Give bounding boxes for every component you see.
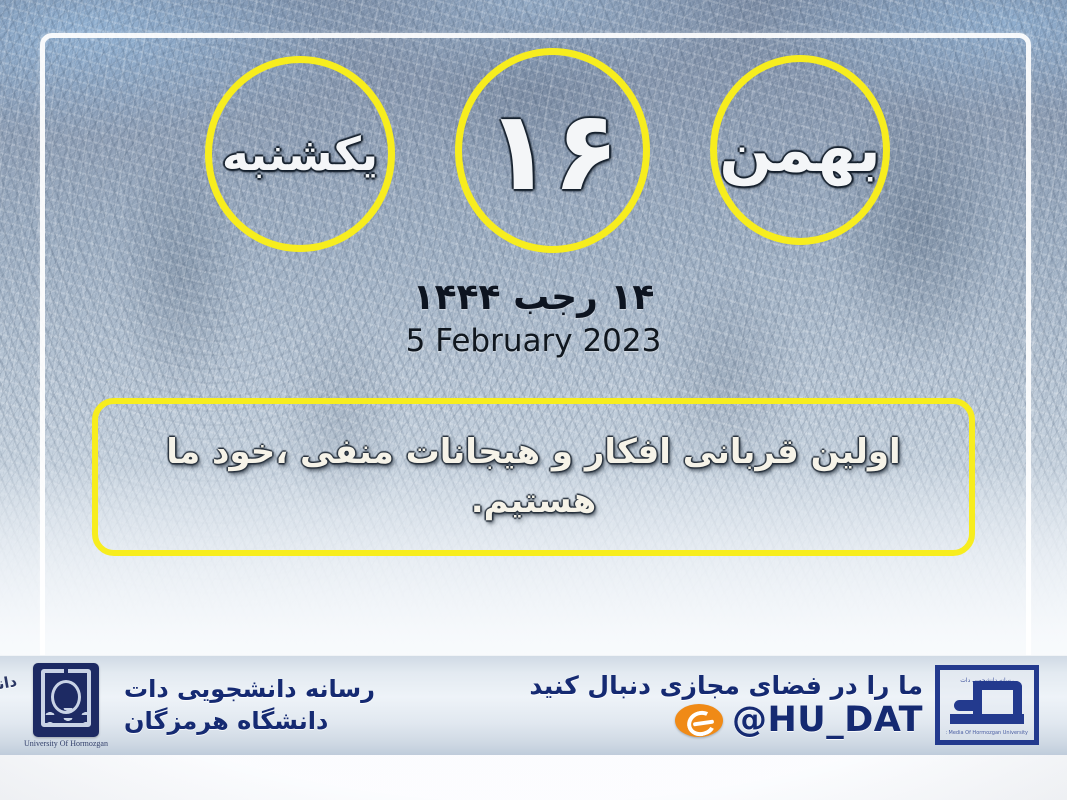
university-crest-icon — [33, 663, 99, 737]
hijri-date-label: ۱۴ رجب ۱۴۴۴ — [0, 278, 1067, 318]
wave-shape-1 — [42, 708, 90, 715]
media-name-line-2: دانشگاه هرمزگان — [124, 705, 328, 737]
date-circle-row: یکشنبه ۱۶ بهمن — [0, 48, 1067, 258]
footer-social-group: رسانه دانشجویی دات Student Media Of Horm… — [511, 665, 1049, 745]
follow-column: ما را در فضای مجازی دنبال کنید @HU_DAT — [529, 672, 923, 738]
dat-logo-bottom-text: Student Media Of Hormozgan University — [946, 730, 1028, 737]
footer-university-group: رسانه دانشجویی دات دانشگاه هرمزگان دانشگ… — [24, 663, 375, 748]
quote-box: اولین قربانی افکار و هیجانات منفی ،خود م… — [92, 398, 975, 556]
date-block: ۱۴ رجب ۱۴۴۴ 5 February 2023 — [0, 278, 1067, 358]
month-circle: بهمن — [710, 55, 890, 245]
gregorian-date-label: 5 February 2023 — [0, 324, 1067, 358]
weekday-circle: یکشنبه — [205, 56, 395, 252]
month-label: بهمن — [719, 119, 881, 181]
quote-text: اولین قربانی افکار و هیجانات منفی ،خود م… — [116, 428, 951, 527]
social-handle-row[interactable]: @HU_DAT — [675, 703, 923, 738]
dat-logo-dots-shape — [954, 700, 980, 711]
university-logo-block: دانشگاه هرمزگان University Of Hormozgan — [24, 663, 110, 748]
media-name-line-1: رسانه دانشجویی دات — [124, 673, 375, 705]
dat-logo-bar-shape — [950, 714, 1024, 724]
university-logo-wrap: University Of Hormozgan — [24, 663, 108, 748]
university-name-fa: دانشگاه هرمزگان — [0, 672, 19, 712]
social-handle-label[interactable]: @HU_DAT — [732, 703, 923, 738]
wave-shape-2 — [42, 718, 90, 725]
calendar-card: یکشنبه ۱۶ بهمن ۱۴ رجب ۱۴۴۴ 5 February 20… — [0, 0, 1067, 800]
day-number-label: ۱۶ — [485, 96, 619, 206]
day-number-circle: ۱۶ — [455, 48, 650, 253]
media-name-column: رسانه دانشجویی دات دانشگاه هرمزگان — [124, 673, 375, 738]
follow-us-label: ما را در فضای مجازی دنبال کنید — [529, 672, 923, 700]
university-name-en: University Of Hormozgan — [24, 739, 108, 748]
footer-banner: رسانه دانشجویی دات Student Media Of Horm… — [0, 655, 1067, 755]
weekday-label: یکشنبه — [222, 131, 378, 177]
eitaa-icon[interactable] — [675, 704, 723, 737]
dat-logo-icon: رسانه دانشجویی دات Student Media Of Horm… — [935, 665, 1039, 745]
